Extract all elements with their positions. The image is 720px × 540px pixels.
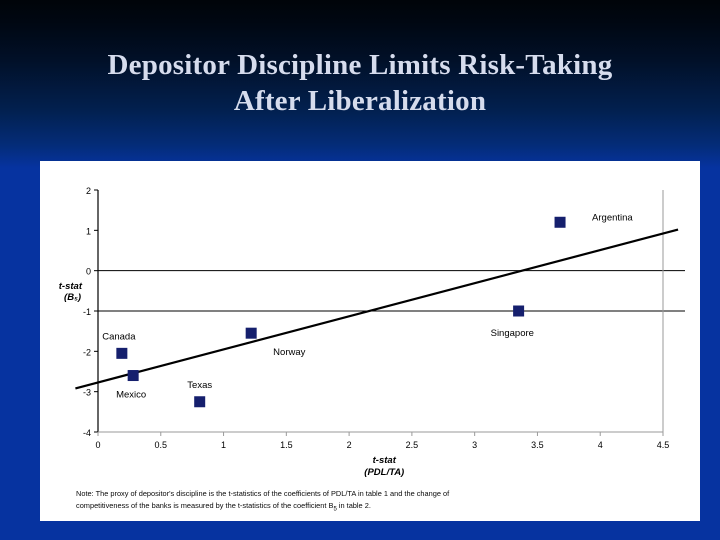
data-point-marker[interactable] bbox=[194, 396, 205, 407]
x-axis-tick-label: 4 bbox=[598, 440, 603, 450]
x-axis-title-line-2: (PDL/TA) bbox=[364, 467, 404, 478]
chart-svg: 210-1-2-3-400.511.522.533.544.5t-stat(B₅… bbox=[40, 161, 700, 481]
data-point-marker[interactable] bbox=[555, 217, 566, 228]
y-axis-title-line-2: (B₅) bbox=[64, 292, 81, 303]
note-line-2-b: in table 2. bbox=[337, 501, 371, 510]
title-line-2: After Liberalization bbox=[0, 83, 720, 119]
data-point-label: Singapore bbox=[491, 328, 534, 339]
content-panel: 210-1-2-3-400.511.522.533.544.5t-stat(B₅… bbox=[40, 161, 700, 521]
y-axis-tick-label: -3 bbox=[83, 388, 91, 398]
y-axis-tick-label: -1 bbox=[83, 307, 91, 317]
x-axis-tick-label: 2 bbox=[347, 440, 352, 450]
data-point-label: Norway bbox=[273, 347, 305, 358]
data-point-marker[interactable] bbox=[116, 348, 127, 359]
x-axis-tick-label: 1.5 bbox=[280, 440, 293, 450]
x-axis-tick-label: 0.5 bbox=[155, 440, 168, 450]
data-point-marker[interactable] bbox=[128, 370, 139, 381]
title-line-1: Depositor Discipline Limits Risk-Taking bbox=[0, 47, 720, 83]
data-point-marker[interactable] bbox=[246, 328, 257, 339]
x-axis-tick-label: 1 bbox=[221, 440, 226, 450]
y-axis-tick-label: 0 bbox=[86, 267, 91, 277]
note-line-1: Note: The proxy of depositor's disciplin… bbox=[76, 488, 672, 500]
data-point-label: Mexico bbox=[116, 390, 146, 401]
data-point-label: Canada bbox=[102, 331, 136, 342]
y-axis-tick-label: -4 bbox=[83, 428, 91, 438]
x-axis-tick-label: 0 bbox=[95, 440, 100, 450]
y-axis-title-line-1: t-stat bbox=[59, 281, 83, 292]
x-axis-tick-label: 3 bbox=[472, 440, 477, 450]
x-axis-tick-label: 3.5 bbox=[531, 440, 544, 450]
x-axis-tick-label: 4.5 bbox=[657, 440, 670, 450]
scatter-chart: 210-1-2-3-400.511.522.533.544.5t-stat(B₅… bbox=[40, 161, 700, 481]
data-point-label: Argentina bbox=[592, 212, 633, 223]
y-axis-tick-label: 2 bbox=[86, 186, 91, 196]
y-axis-tick-label: 1 bbox=[86, 226, 91, 236]
page-title: Depositor Discipline Limits Risk-Taking … bbox=[0, 47, 720, 119]
trendline bbox=[75, 230, 678, 389]
x-axis-title-line-1: t-stat bbox=[373, 455, 397, 466]
data-point-label: Texas bbox=[187, 380, 212, 391]
y-axis-tick-label: -2 bbox=[83, 347, 91, 357]
chart-note: Note: The proxy of depositor's disciplin… bbox=[76, 488, 672, 515]
note-line-2: competitiveness of the banks is measured… bbox=[76, 500, 672, 516]
slide: Depositor Discipline Limits Risk-Taking … bbox=[0, 0, 720, 540]
data-point-marker[interactable] bbox=[513, 306, 524, 317]
note-line-2-a: competitiveness of the banks is measured… bbox=[76, 501, 333, 510]
x-axis-tick-label: 2.5 bbox=[406, 440, 419, 450]
